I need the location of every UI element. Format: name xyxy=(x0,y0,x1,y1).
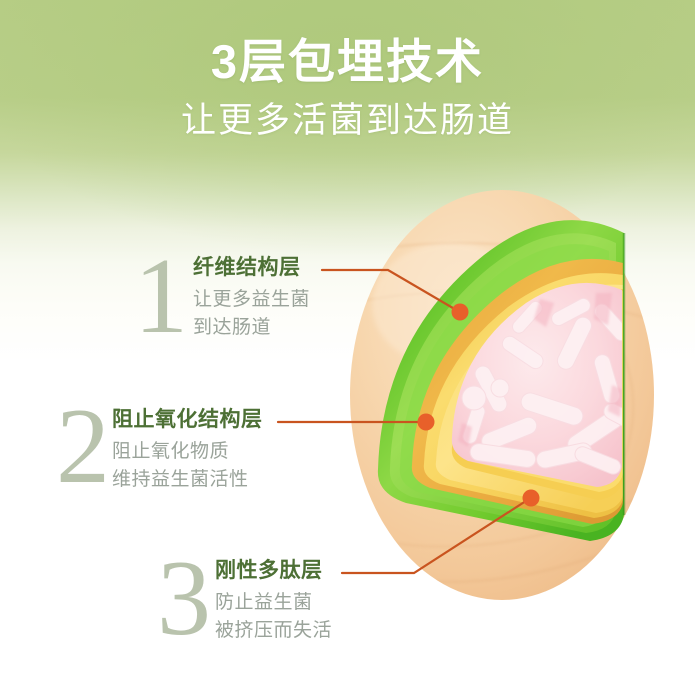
callout-2-text: 阻止氧化结构层 阻止氧化物质 维持益生菌活性 xyxy=(112,408,263,494)
callout-1-title: 纤维结构层 xyxy=(193,256,310,279)
capsule-illustration xyxy=(350,185,695,615)
callout-3-number: 3 xyxy=(157,545,211,653)
callout-3-text: 刚性多肽层 防止益生菌 被挤压而失活 xyxy=(215,559,332,645)
callout-1-desc-line1: 让更多益生菌 xyxy=(193,287,310,313)
page-subtitle: 让更多活菌到达肠道 xyxy=(0,102,695,141)
callout-1-text: 纤维结构层 让更多益生菌 到达肠道 xyxy=(193,256,310,342)
page-title: 3层包埋技术 xyxy=(0,36,695,89)
callout-2-desc-line1: 阻止氧化物质 xyxy=(112,439,263,465)
poster-root: 3层包埋技术 让更多活菌到达肠道 xyxy=(0,0,695,695)
callout-1-number: 1 xyxy=(134,243,188,351)
callout-2-desc-line2: 维持益生菌活性 xyxy=(112,467,263,493)
callout-3-desc-line1: 防止益生菌 xyxy=(215,590,332,616)
callout-3-title: 刚性多肽层 xyxy=(215,559,332,582)
heading-block: 3层包埋技术 让更多活菌到达肠道 xyxy=(0,36,695,140)
callout-3-desc-line2: 被挤压而失活 xyxy=(215,618,332,644)
callout-2-number: 2 xyxy=(56,393,110,501)
callout-2-title: 阻止氧化结构层 xyxy=(112,408,263,431)
callout-1-desc-line2: 到达肠道 xyxy=(193,315,310,341)
